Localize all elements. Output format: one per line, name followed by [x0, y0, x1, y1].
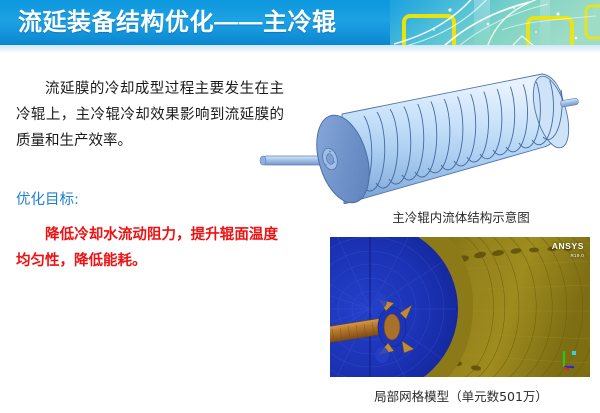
slide-header: 流延装备结构优化——主冷辊 [0, 0, 600, 45]
optimization-goal-text: 降低冷却水流动阻力，提升辊面温度均匀性，降低能耗。 [16, 222, 278, 274]
roller-figure-caption: 主冷辊内流体结构示意图 [330, 207, 592, 226]
roller-cad-figure [258, 52, 598, 204]
intro-paragraph: 流延膜的冷却成型过程主要发生在主冷辊上，主冷辊冷却效果影响到流延膜的质量和生产效… [16, 76, 284, 154]
mesh-figure-caption: 局部网格模型（单元数501万） [330, 386, 592, 405]
roller-body [342, 72, 576, 204]
ansys-watermark-text: ANSYS [552, 241, 584, 251]
ansys-watermark: ANSYS R19.0 [552, 242, 584, 260]
optimization-goal-label: 优化目标: [16, 189, 79, 211]
axis-triad-icon [556, 345, 582, 371]
ansys-watermark-version: R19.0 [552, 251, 584, 260]
mesh-model-figure: ANSYS R19.0 [330, 237, 590, 377]
header-decoration [390, 0, 600, 45]
page-title: 流延装备结构优化——主冷辊 [18, 6, 337, 39]
